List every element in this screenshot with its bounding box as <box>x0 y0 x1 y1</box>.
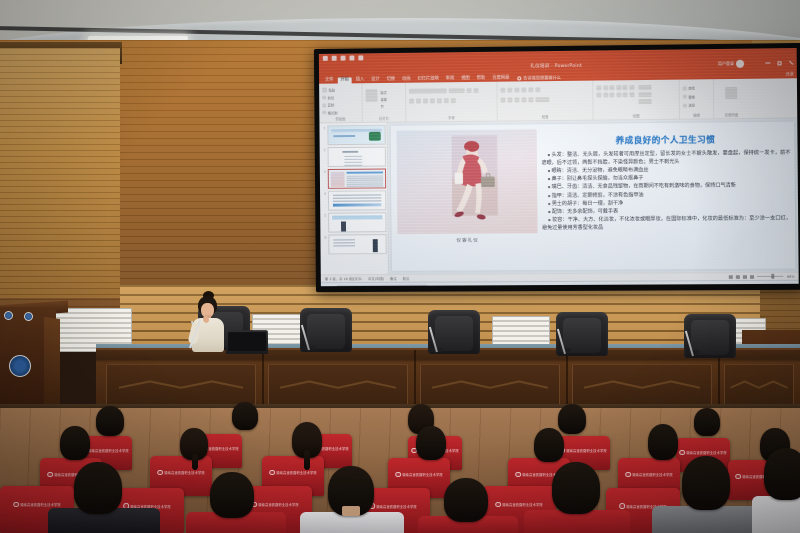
customize-icon[interactable] <box>358 55 363 60</box>
woman-walking-illustration <box>397 129 539 234</box>
shape-more-icon[interactable] <box>616 92 621 97</box>
slides-icons[interactable]: 版式 重置 节 <box>365 85 402 109</box>
font-color-icon[interactable] <box>451 98 456 103</box>
audience-head <box>60 426 90 460</box>
podium-badge-right <box>24 312 33 321</box>
uniform-logo-icon <box>13 502 19 508</box>
cortana-icon[interactable] <box>459 285 465 286</box>
shadow-icon[interactable] <box>430 98 435 103</box>
thumbnail-6[interactable] <box>328 234 387 254</box>
baidu-group-label: 百度网盘 <box>717 114 745 118</box>
thumbnail-item[interactable]: 5 <box>321 212 386 232</box>
uniform-logo-icon <box>395 472 401 478</box>
replace-icon[interactable] <box>683 95 687 99</box>
present-icon[interactable] <box>349 55 354 60</box>
slides-group-label: 幻灯片 <box>366 117 403 121</box>
presenter <box>186 296 230 356</box>
font-family-select[interactable] <box>409 88 447 93</box>
decrease-indent-icon[interactable] <box>514 87 519 92</box>
zoom-level[interactable]: 66% <box>787 274 795 278</box>
thumbnail-item[interactable]: 4 <box>321 190 386 210</box>
align-center-icon[interactable] <box>507 97 512 102</box>
audience-head-foreground <box>74 462 122 514</box>
ribbon-group-baidu[interactable]: 百度网盘 <box>714 79 749 119</box>
uniform-logo-text: 湖南高速铁路职业技术学院 <box>88 448 129 453</box>
account-name[interactable]: 用户登录 <box>718 60 734 66</box>
slide-canvas[interactable]: 仪容礼仪 养成良好的个人卫生习惯 头发：整洁、无头屑，头发较者可用摩丝定型，留长… <box>388 119 799 274</box>
shape-arrow-icon[interactable] <box>609 85 614 90</box>
audience-head <box>416 426 446 460</box>
avatar[interactable] <box>736 59 744 67</box>
zoom-slider[interactable] <box>758 276 784 277</box>
align-left-icon[interactable] <box>500 97 505 102</box>
view-slideshow-icon[interactable] <box>750 274 754 278</box>
numbering-icon[interactable] <box>507 88 512 93</box>
audience-head <box>534 428 564 462</box>
font-group-label: 字体 <box>409 116 493 120</box>
slide-title: 养成良好的个人卫生习惯 <box>541 133 790 147</box>
format-painter-icon[interactable] <box>322 110 326 114</box>
slide-text-block[interactable]: 养成良好的个人卫生习惯 头发：整洁、无头屑，头发较者可用摩丝定型，留长发的女士不… <box>541 127 791 266</box>
uniform-logo-text: 湖南高速铁路职业技术学院 <box>376 504 417 509</box>
thumbnail-item[interactable]: 3 <box>321 169 386 189</box>
uniform-logo-icon <box>157 470 163 476</box>
uniform-logo-icon <box>515 472 521 478</box>
ribbon-group-editing[interactable]: 查找 替换 选择 编辑 <box>680 79 715 119</box>
uniform-logo-text: 湖南高速铁路职业技术学院 <box>502 502 543 507</box>
thumbnail-number: 4 <box>321 191 326 196</box>
shape-fill-icon[interactable] <box>638 99 651 104</box>
audience-head-foreground <box>682 456 730 510</box>
baidu-save-icon[interactable] <box>725 87 737 99</box>
language-indicator[interactable]: 中文(中国) <box>368 276 384 281</box>
ribbon-group-clipboard[interactable]: 粘贴 剪切 复制 格式刷 剪贴板 <box>319 83 363 122</box>
uniform-logo-text: 湖南高速铁路职业技术学院 <box>20 502 61 507</box>
clipboard-group-label: 剪贴板 <box>322 118 359 122</box>
ribbon-group-paragraph[interactable]: 段落 <box>497 81 593 121</box>
powerpoint-icon[interactable] <box>495 285 501 286</box>
font-icons[interactable] <box>409 84 494 105</box>
quick-styles-icon[interactable] <box>638 92 651 97</box>
increase-font-icon[interactable] <box>467 88 472 93</box>
audience-head-foreground <box>444 478 488 522</box>
thumbnail-number: 5 <box>321 213 326 218</box>
audience-neck <box>342 506 360 516</box>
shape-line-icon[interactable] <box>616 85 621 90</box>
zoom-knob[interactable] <box>772 274 775 279</box>
shape-rect-icon[interactable] <box>596 86 601 91</box>
audience-shoulders <box>652 506 762 533</box>
cut-label[interactable]: 剪切 <box>328 95 335 100</box>
podium-badge-left <box>4 311 13 320</box>
thumbnail-number: 1 <box>320 125 325 130</box>
justify-icon[interactable] <box>521 97 526 102</box>
bullets-icon[interactable] <box>500 88 505 93</box>
font-size-select[interactable] <box>449 88 465 93</box>
shape-callout-icon[interactable] <box>596 92 601 97</box>
section-label[interactable]: 节 <box>380 104 387 109</box>
audience-ponytail <box>192 454 198 470</box>
align-right-icon[interactable] <box>514 97 519 102</box>
weather-indicator[interactable]: 34°C 晴朗 <box>767 284 783 286</box>
arrange-icon[interactable] <box>638 85 651 90</box>
ribbon[interactable]: 粘贴 剪切 复制 格式刷 剪贴板 版式 重置 节 <box>319 78 797 123</box>
view-normal-icon[interactable] <box>729 275 733 279</box>
uniform-logo-text: 湖南高速铁路职业技术学院 <box>164 470 205 475</box>
thumbnail-5[interactable] <box>328 212 387 232</box>
current-slide[interactable]: 仪容礼仪 养成良好的个人卫生习惯 头发：整洁、无头屑，头发较者可用摩丝定型，留长… <box>391 122 796 271</box>
thumbnail-number: 6 <box>321 235 326 240</box>
text-direction-icon[interactable] <box>535 87 540 92</box>
powerpoint-window: 礼仪培训 - PowerPoint 用户登录 文件 开始 插入 设计 切换 动画 <box>319 48 799 286</box>
undo-icon[interactable] <box>332 56 337 61</box>
ribbon-group-drawing[interactable]: 绘图 <box>593 80 680 120</box>
uniform-logo-icon <box>495 502 501 508</box>
shape-freeform-icon[interactable] <box>629 92 634 97</box>
shape-triangle-icon[interactable] <box>622 85 627 90</box>
share-button[interactable]: 共享 <box>786 71 794 77</box>
system-tray[interactable]: 34°C 晴朗 14:36 <box>767 284 795 286</box>
layout-label[interactable]: 版式 <box>380 90 387 95</box>
thumbnail-item[interactable]: 1 <box>320 125 385 146</box>
underline-icon[interactable] <box>423 98 428 103</box>
audience-ponytail <box>304 450 310 470</box>
etiquette-illustration <box>397 129 539 234</box>
decrease-font-icon[interactable] <box>474 88 479 93</box>
account-area[interactable]: 用户登录 <box>718 59 744 68</box>
paste-label[interactable]: 粘贴 <box>329 88 336 93</box>
lightbulb-icon <box>517 76 521 80</box>
start-icon[interactable] <box>325 286 331 287</box>
thumbnail-4[interactable] <box>327 190 386 210</box>
columns-icon[interactable] <box>528 97 533 102</box>
reset-label[interactable]: 重置 <box>380 97 387 102</box>
maximize-icon[interactable] <box>777 61 781 65</box>
comments-button[interactable]: 批注 <box>403 276 410 281</box>
increase-indent-icon[interactable] <box>521 87 526 92</box>
editor-body: 1 2 3 <box>319 119 798 275</box>
thumbnail-2[interactable] <box>327 147 386 167</box>
cut-icon[interactable] <box>322 96 326 100</box>
shape-banner-icon[interactable] <box>609 92 614 97</box>
slide-bullet: 头发：整洁、无头屑，头发较者可用摩丝定型，留长发的女士不披头散发，要盘起，保持统… <box>541 150 790 168</box>
audience-head <box>558 404 586 434</box>
audience-shoulders <box>752 496 800 533</box>
thumbnail-item[interactable]: 6 <box>321 234 386 254</box>
replace-label[interactable]: 替换 <box>688 94 695 99</box>
minimize-icon[interactable] <box>765 62 770 63</box>
strikethrough-icon[interactable] <box>437 98 442 103</box>
shape-oval-icon[interactable] <box>603 85 608 90</box>
format-painter-label[interactable]: 格式刷 <box>328 110 338 115</box>
uniform-logo-text: 湖南高速铁路职业技术学院 <box>566 448 607 453</box>
search-input[interactable]: 在这里输入你要搜索的内容 <box>335 284 430 286</box>
drawing-group-label: 绘图 <box>597 114 676 118</box>
smartart-icon[interactable] <box>535 97 549 102</box>
lecture-hall-scene: 礼仪培训 - PowerPoint 用户登录 文件 开始 插入 设计 切换 动画 <box>0 0 800 533</box>
audience: 湖南高速铁路职业技术学院 湖南高速铁路职业技术学院 湖南高速铁路职业技术学院 湖… <box>0 400 800 533</box>
task-view-icon[interactable] <box>471 285 477 286</box>
uniform-logo-icon <box>735 474 741 480</box>
find-icon[interactable] <box>683 86 687 90</box>
uniform-logo-icon <box>679 450 685 456</box>
uniform-logo-icon <box>619 503 625 509</box>
wall-panel-left <box>0 48 120 298</box>
uniform-logo-icon <box>269 470 275 476</box>
audience-head-foreground <box>764 448 800 500</box>
view-sorter-icon[interactable] <box>736 275 740 279</box>
thumbnail-1[interactable] <box>327 125 386 145</box>
select-icon[interactable] <box>683 103 687 107</box>
paragraph-group-label: 段落 <box>501 115 590 119</box>
editing-group-label: 编辑 <box>683 114 710 118</box>
find-label[interactable]: 查找 <box>688 85 695 90</box>
zoom-controls[interactable]: 66% <box>729 274 794 278</box>
podium-crest-icon <box>9 355 31 377</box>
uniform-logo-text: 湖南高速铁路职业技术学院 <box>276 470 317 475</box>
uniform-logo-icon <box>47 472 53 478</box>
copy-label[interactable]: 复制 <box>328 102 335 107</box>
baidu-icons[interactable] <box>717 81 745 99</box>
shape-connector-icon[interactable] <box>622 92 627 97</box>
shape-star-icon[interactable] <box>629 85 634 90</box>
uniform-logo-text: 湖南高速铁路职业技术学院 <box>686 450 727 455</box>
redo-icon[interactable] <box>341 56 346 61</box>
thumbnail-number: 2 <box>321 147 326 152</box>
thumbnail-number: 3 <box>321 169 326 174</box>
view-reading-icon[interactable] <box>743 274 747 278</box>
uniform-logo-text: 湖南高速铁路职业技术学院 <box>402 472 443 477</box>
clipboard-icons[interactable]: 粘贴 剪切 复制 格式刷 <box>322 85 359 116</box>
uniform-logo-icon <box>625 472 631 478</box>
presenter-laptop <box>226 330 268 354</box>
bold-icon[interactable] <box>409 98 414 103</box>
new-slide-icon[interactable] <box>366 89 378 102</box>
figure-caption: 仪容礼仪 <box>456 238 478 244</box>
file-explorer-icon[interactable] <box>483 285 489 286</box>
ribbon-group-font[interactable]: 字体 <box>406 82 498 122</box>
italic-icon[interactable] <box>416 98 421 103</box>
audience-head <box>96 406 124 436</box>
drawing-icons[interactable] <box>596 82 676 105</box>
audience-head <box>648 424 678 460</box>
uniform-logo-text: 湖南高速铁路职业技术学院 <box>632 472 673 477</box>
led-display-screen: 礼仪培训 - PowerPoint 用户登录 文件 开始 插入 设计 切换 动画 <box>314 43 800 292</box>
copy-icon[interactable] <box>322 103 326 107</box>
slide-figure: 仪容礼仪 <box>397 129 539 267</box>
audience-head <box>694 408 720 436</box>
slide-indicator: 第 3 张，共 16 张幻灯片 <box>325 276 362 281</box>
ribbon-group-slides[interactable]: 版式 重置 节 幻灯片 <box>363 83 407 122</box>
save-icon[interactable] <box>323 56 328 61</box>
audience-head <box>232 402 258 430</box>
select-label[interactable]: 选择 <box>688 103 695 108</box>
char-spacing-icon[interactable] <box>444 98 449 103</box>
slide-thumbnail-pane[interactable]: 1 2 3 <box>319 123 388 275</box>
paste-icon[interactable] <box>322 88 327 93</box>
audience-head-foreground <box>552 462 600 514</box>
slide-bullet: 妆容：干净、大方、化淡妆，不化浓妆或眼厚妆，在国际标准中，化妆的最低标准为：至少… <box>542 216 791 233</box>
audience-head-foreground <box>210 472 254 518</box>
paragraph-icons[interactable] <box>500 83 589 104</box>
close-icon[interactable] <box>789 61 793 65</box>
thumbnail-item[interactable]: 2 <box>321 147 386 167</box>
notes-button[interactable]: 备注 <box>390 276 397 281</box>
taskbar-apps[interactable] <box>459 285 501 286</box>
window-controls[interactable] <box>765 57 793 68</box>
thumbnail-3-selected[interactable] <box>327 169 386 189</box>
line-spacing-icon[interactable] <box>528 87 533 92</box>
uniform-logo-text: 湖南高速铁路职业技术学院 <box>258 502 299 507</box>
editing-icons[interactable]: 查找 替换 选择 <box>683 81 710 109</box>
shape-flow-icon[interactable] <box>603 92 608 97</box>
document-title: 礼仪培训 - PowerPoint <box>530 62 582 69</box>
clock[interactable]: 14:36 <box>785 284 794 286</box>
